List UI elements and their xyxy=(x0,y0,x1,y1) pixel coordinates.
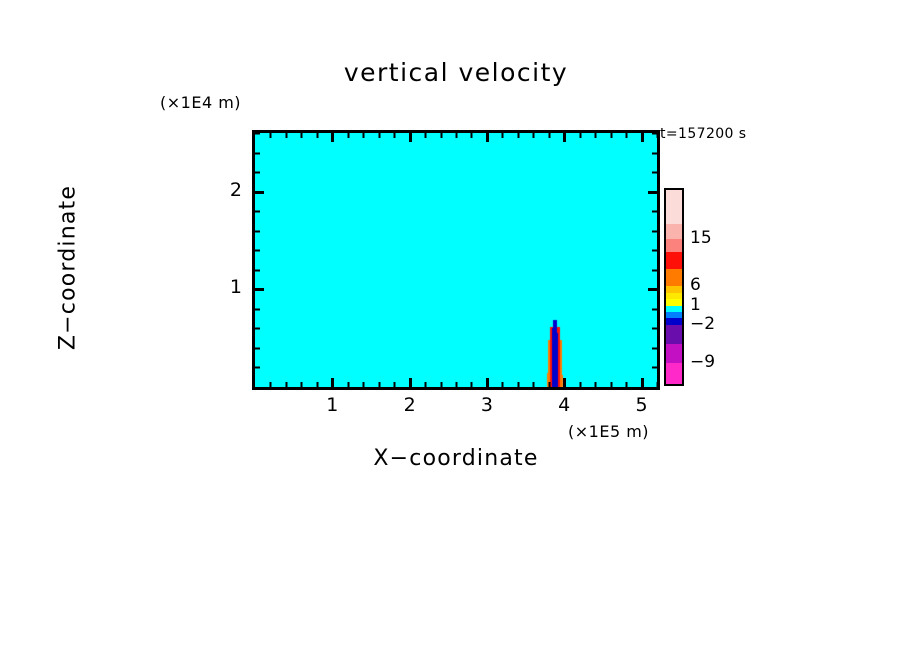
y-axis-title: Z−coordinate xyxy=(56,138,81,398)
colorbar-band xyxy=(666,239,682,252)
colorbar-band xyxy=(666,325,682,344)
page-title: vertical velocity xyxy=(252,58,660,87)
colorbar-band xyxy=(666,269,682,286)
colorbar-band xyxy=(666,344,682,363)
colorbar-band xyxy=(666,286,682,293)
colorbar-band xyxy=(666,224,682,239)
y-tick-label: 1 xyxy=(212,276,242,298)
colorbar-tick-label: 15 xyxy=(690,228,712,248)
x-tick-label: 3 xyxy=(467,394,507,416)
x-tick-label: 4 xyxy=(544,394,584,416)
y-tick-label: 2 xyxy=(212,179,242,201)
colorbar-tick-label: 1 xyxy=(690,295,701,315)
x-tick-label: 2 xyxy=(390,394,430,416)
y-unit-label: (×1E4 m) xyxy=(160,93,241,112)
colorbar-band xyxy=(666,299,682,306)
velocity-field-canvas xyxy=(255,133,657,387)
x-axis-title: X−coordinate xyxy=(252,446,660,471)
colorbar-band xyxy=(666,363,682,384)
colorbar-band xyxy=(666,252,682,269)
colorbar xyxy=(664,188,684,386)
time-annotation: t=157200 s xyxy=(660,126,746,142)
colorbar-tick-label: −2 xyxy=(690,314,715,334)
x-tick-label: 5 xyxy=(622,394,662,416)
colorbar-tick-label: 6 xyxy=(690,275,701,295)
vertical-velocity-figure: vertical velocity (×1E4 m) (×1E5 m) X−co… xyxy=(0,0,904,654)
colorbar-band xyxy=(666,190,682,224)
contour-plot-area xyxy=(252,130,660,390)
colorbar-band xyxy=(666,318,682,325)
colorbar-tick-label: −9 xyxy=(690,352,715,372)
x-tick-label: 1 xyxy=(312,394,352,416)
x-unit-label: (×1E5 m) xyxy=(568,422,649,441)
